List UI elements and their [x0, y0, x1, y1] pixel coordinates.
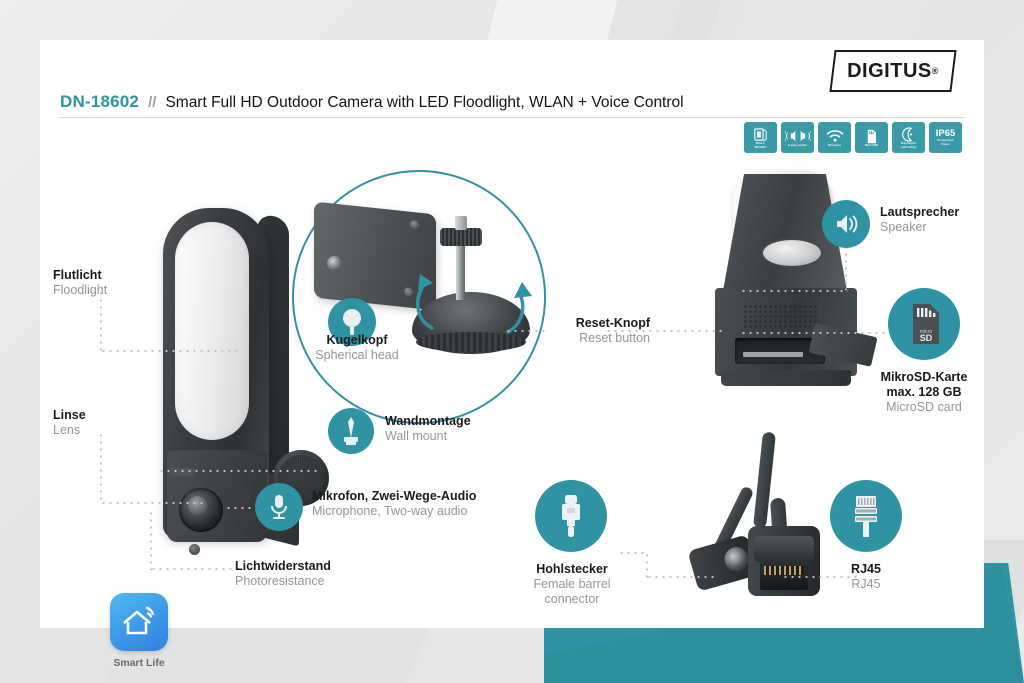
label-en: Female barrel — [518, 577, 626, 592]
badge-label: Wireless — [827, 144, 843, 148]
label-rj45: RJ45 RJ45 — [820, 562, 912, 592]
label-de: Reset-Knopf — [500, 316, 650, 331]
label-floodlight: Flutlicht Floodlight — [53, 268, 107, 298]
leader-line — [100, 432, 102, 504]
label-en: Photoresistance — [235, 574, 331, 589]
label-en-2: connector — [518, 592, 626, 607]
product-image-camera-bottom — [685, 170, 895, 400]
badge-label-2: switching — [900, 146, 917, 150]
screw-hole — [410, 220, 419, 230]
product-image-cables — [640, 450, 870, 640]
label-de: Lichtwiderstand — [235, 559, 331, 574]
two-way-audio-icon — [785, 129, 811, 144]
label-de: MikroSD-Karte — [846, 370, 1002, 385]
label-speaker: Lautsprecher Speaker — [880, 205, 959, 235]
leader-line — [618, 552, 648, 554]
camera-foot — [721, 370, 851, 386]
badge-label-2: Class — [940, 143, 951, 147]
page-title: Smart Full HD Outdoor Camera with LED Fl… — [165, 94, 683, 112]
registered-mark: ® — [932, 66, 939, 76]
detail-inset-circle — [292, 170, 546, 424]
leader-line — [150, 510, 152, 570]
leader-line — [100, 290, 102, 352]
badge-label: MicroSD — [864, 144, 879, 148]
title-bar: DN-18602 // Smart Full HD Outdoor Camera… — [60, 92, 684, 112]
badge-label-2: MOUNT — [754, 146, 768, 150]
leader-line — [740, 332, 890, 334]
leader-line — [646, 552, 648, 578]
label-en: Lens — [53, 423, 86, 438]
microsd-card-icon: microSD — [888, 288, 960, 360]
badge-microsd: MicroSD — [855, 122, 888, 153]
feature-badge-row: WALL MOUNT 2-way-audio Wireless MicroSD — [744, 122, 962, 153]
label-photoresistance: Lichtwiderstand Photoresistance — [235, 559, 331, 589]
leader-line — [158, 470, 318, 472]
label-en: Reset button — [500, 331, 650, 346]
product-sku: DN-18602 — [60, 92, 139, 112]
label-lens: Linse Lens — [53, 408, 86, 438]
microphone-icon — [255, 483, 303, 531]
leader-line — [740, 290, 848, 292]
leader-line — [100, 502, 205, 504]
title-divider — [60, 117, 964, 118]
title-separator: // — [148, 94, 156, 111]
logo-text: DIGITUS® — [832, 50, 954, 92]
badge-wall-mount: WALL MOUNT — [744, 122, 777, 153]
badge-ip65: IP65 Protection Class — [929, 122, 962, 153]
label-en: Speaker — [880, 220, 959, 235]
label-microphone: Mikrofon, Zwei-Wege-Audio Microphone, Tw… — [312, 489, 476, 519]
content-card: DIGITUS® DN-18602 // Smart Full HD Outdo… — [40, 40, 984, 628]
leader-line — [100, 350, 240, 352]
label-microsd: MikroSD-Karte max. 128 GB MicroSD card — [846, 370, 1002, 414]
smart-life-app-icon — [110, 593, 168, 651]
badge-two-way-audio: 2-way-audio — [781, 122, 814, 153]
rj45-icon — [830, 480, 902, 552]
day-night-icon — [901, 127, 916, 142]
speaker-icon — [822, 200, 870, 248]
label-de: Mikrofon, Zwei-Wege-Audio — [312, 489, 476, 504]
wireless-icon — [826, 129, 844, 144]
label-de: Flutlicht — [53, 268, 107, 283]
microsd-icon — [865, 129, 878, 144]
label-de: Lautsprecher — [880, 205, 959, 220]
camera-lens — [179, 488, 223, 532]
camera-lens-ring — [761, 238, 823, 268]
label-reset-button: Reset-Knopf Reset button — [500, 316, 650, 346]
logo-wordmark: DIGITUS — [847, 60, 932, 83]
label-spherical-head: Kugelkopf Spherical head — [302, 333, 412, 363]
label-de: Wandmontage — [385, 414, 471, 429]
label-de: Kugelkopf — [302, 333, 412, 348]
badge-day-night: Day/night switching — [892, 122, 925, 153]
barrel-plug-icon — [535, 480, 607, 552]
label-en: MicroSD card — [846, 400, 1002, 415]
camera-photoresistor — [189, 544, 200, 555]
badge-label: 2-way-audio — [787, 144, 808, 148]
label-barrel-connector: Hohlstecker Female barrel connector — [518, 562, 626, 606]
smart-life-label: Smart Life — [101, 657, 177, 669]
label-de-2: max. 128 GB — [846, 385, 1002, 400]
leader-line — [646, 576, 716, 578]
label-en: Wall mount — [385, 429, 471, 444]
screw-icon — [328, 408, 374, 454]
connector-nut — [754, 536, 814, 562]
digitus-logo: DIGITUS® — [832, 50, 954, 92]
label-en: Spherical head — [302, 348, 412, 363]
camera-floodlight-panel — [175, 222, 249, 440]
label-en: Microphone, Two-way audio — [312, 504, 476, 519]
wall-mount-icon — [753, 127, 768, 142]
label-wall-mount: Wandmontage Wall mount — [385, 414, 471, 444]
rj45-connector-part — [748, 526, 820, 596]
label-de: RJ45 — [820, 562, 912, 577]
svg-text:SD: SD — [920, 333, 933, 343]
knurled-nut — [440, 228, 482, 246]
label-en: RJ45 — [820, 577, 912, 592]
speaker-grille — [743, 304, 819, 328]
badge-wireless: Wireless — [818, 122, 851, 153]
label-en: Floodlight — [53, 283, 107, 298]
bracket-pivot-dot — [327, 256, 342, 271]
label-de: Linse — [53, 408, 86, 423]
label-de: Hohlstecker — [518, 562, 626, 577]
